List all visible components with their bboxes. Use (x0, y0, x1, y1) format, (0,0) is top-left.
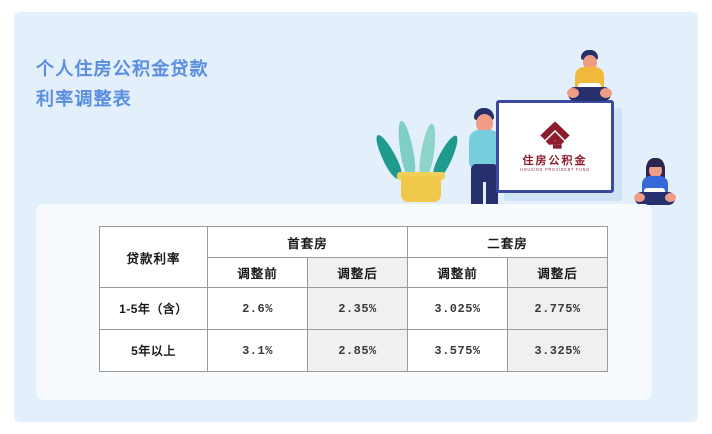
fund-logo-cn-text: 住房公积金 (523, 155, 588, 167)
table-subheader-after-2: 调整后 (508, 258, 608, 288)
table-cell-value: 2.6% (208, 288, 308, 330)
fund-logo-panel: 住房公积金 HOUSING PROVIDENT FUND (496, 100, 614, 193)
sitting-person-top-figure (562, 50, 616, 102)
table-row: 5年以上 3.1% 2.85% 3.575% 3.325% (100, 330, 608, 372)
table-subheader-before-1: 调整前 (208, 258, 308, 288)
table-cell-value: 3.575% (408, 330, 508, 372)
table-row: 1-5年（含） 2.6% 2.35% 3.025% 2.775% (100, 288, 608, 330)
person-foot-right (600, 88, 612, 98)
person-foot-left (567, 88, 579, 98)
table-group-header-first-home: 首套房 (208, 227, 408, 258)
table-cell-value: 3.325% (508, 330, 608, 372)
fund-logo-panel-inner: 住房公积金 HOUSING PROVIDENT FUND (499, 103, 611, 190)
table-header-row-1: 贷款利率 首套房 二套房 (100, 227, 608, 258)
plant-pot (401, 176, 441, 202)
table-subheader-before-2: 调整前 (408, 258, 508, 288)
table-corner-label: 贷款利率 (100, 227, 208, 288)
potted-plant-icon (384, 117, 458, 202)
housing-fund-logo-icon (538, 120, 572, 152)
fund-logo-en-text: HOUSING PROVIDENT FUND (520, 166, 589, 173)
person-foot-right (665, 193, 676, 202)
table-cell-value: 2.775% (508, 288, 608, 330)
hero-illustration: 住房公积金 HOUSING PROVIDENT FUND (354, 12, 698, 212)
table-cell-value: 2.35% (308, 288, 408, 330)
table-card: 贷款利率 首套房 二套房 调整前 调整后 调整前 调整后 1-5年（含） 2.6… (36, 204, 652, 400)
table-subheader-after-1: 调整后 (308, 258, 408, 288)
poster-card: 个人住房公积金贷款 利率调整表 (14, 12, 698, 422)
table-row-label: 5年以上 (100, 330, 208, 372)
person-hair-top (647, 158, 664, 167)
table-cell-value: 3.1% (208, 330, 308, 372)
page-title: 个人住房公积金贷款 利率调整表 (36, 54, 209, 114)
person-foot-left (634, 193, 645, 202)
table-cell-value: 3.025% (408, 288, 508, 330)
table-cell-value: 2.85% (308, 330, 408, 372)
rate-adjustment-table: 贷款利率 首套房 二套房 调整前 调整后 调整前 调整后 1-5年（含） 2.6… (99, 226, 608, 372)
title-line-1: 个人住房公积金贷款 (36, 54, 209, 84)
sitting-person-right-figure (631, 157, 679, 207)
table-row-label: 1-5年（含） (100, 288, 208, 330)
title-line-2: 利率调整表 (36, 84, 209, 114)
table-group-header-second-home: 二套房 (408, 227, 608, 258)
